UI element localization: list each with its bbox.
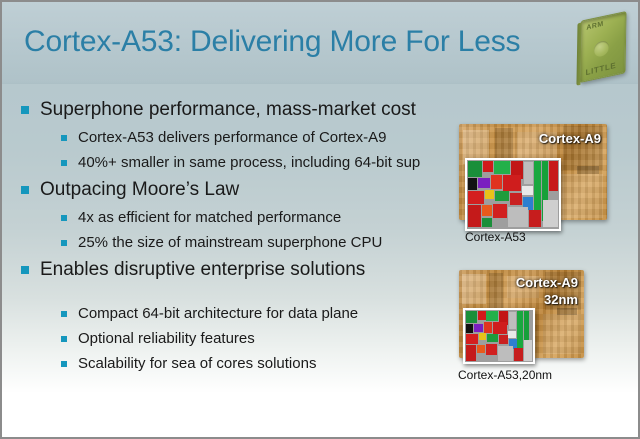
chip-body: ARM LITTLE [579,11,626,83]
bullet-item: 4x as efficient for matched performance [18,206,468,230]
bullet-item: 25% the size of mainstream superphone CP… [18,231,468,255]
bullet-item: Superphone performance, mass-market cost [18,96,468,124]
die-cell [509,312,516,329]
bullet-marker-icon [61,336,67,342]
bullet-text: Compact 64-bit architecture for data pla… [78,305,358,322]
die-cell [514,348,523,361]
die-label: Cortex-A9 [539,131,601,147]
die-cell [529,210,541,227]
cortex-a53-die-photo [465,158,561,231]
bullet-list: Superphone performance, mass-market cost… [18,96,468,377]
bullet-marker-icon [61,135,67,141]
die-cell [482,205,492,216]
die-comparison-top: Cortex-A9 [459,124,631,249]
die-cell [466,334,478,344]
die-block [557,308,577,315]
die-cell [468,205,481,227]
bullet-marker-icon [61,240,67,246]
bullet-marker-icon [61,311,67,317]
bullet-text: Outpacing Moore’s Law [40,179,239,200]
die-cell [478,311,486,320]
die-cell [468,178,477,190]
die-cell [483,161,493,172]
die-caption: Cortex-A53 [465,230,526,244]
die-cell [466,345,476,361]
chip-little-text: LITTLE [586,61,617,78]
bullet-marker-icon [61,215,67,221]
die-cell [508,207,528,227]
die-cell [524,340,532,361]
die-cell [491,175,502,189]
die-caption: Cortex-A53,20nm [458,368,552,382]
title-band: Cortex-A53: Delivering More For Less [2,2,640,84]
bullet-item: Enables disruptive enterprise solutions [18,256,468,284]
die-cell [466,324,473,333]
bullet-item: Scalability for sea of cores solutions [18,352,468,376]
die-cell [466,311,477,323]
die-cell [494,161,510,174]
bullet-item: Optional reliability features [18,327,468,351]
die-block [462,274,486,304]
die-comparison-bottom: Cortex-A9 32nm [451,270,633,396]
die-cell [482,218,492,227]
bullet-spacer [18,286,468,302]
die-cell [474,324,483,332]
die-cell [477,345,485,353]
die-label: Cortex-A9 [516,275,578,291]
bullet-item: 40%+ smaller in same process, including … [18,151,468,175]
die-cell [485,190,494,199]
die-cell [522,186,533,195]
bullet-text: 40%+ smaller in same process, including … [78,154,420,171]
die-cell [468,191,484,204]
die-cell [484,322,492,333]
bullet-marker-icon [21,106,29,114]
chip-dot-icon [594,40,609,58]
die-cell [479,333,486,340]
die-cell [495,191,509,201]
bullet-text: 25% the size of mainstream superphone CP… [78,234,382,251]
die-block [559,174,603,218]
arm-chip-badge-icon: ARM LITTLE [579,11,626,83]
bullet-text: Enables disruptive enterprise solutions [40,259,365,280]
die-cell [468,161,482,177]
die-cell [486,344,497,355]
die-cell [493,204,507,218]
bullet-text: Scalability for sea of cores solutions [78,355,316,372]
bullet-marker-icon [61,361,67,367]
die-cell [499,335,508,344]
die-cell [478,178,490,188]
bullet-marker-icon [61,160,67,166]
die-block [543,314,581,354]
die-cell [549,161,558,191]
bullet-item: Cortex-A53 delivers performance of Corte… [18,126,468,150]
bullet-marker-icon [21,186,29,194]
slide-canvas: Cortex-A53: Delivering More For Less ARM… [0,0,640,439]
bullet-item: Compact 64-bit architecture for data pla… [18,302,468,326]
die-cell [493,322,507,334]
die-cell [487,334,498,342]
chip-arm-text: ARM [586,21,603,32]
die-cell [508,331,516,338]
die-cell [498,346,513,361]
die-cell [543,200,558,227]
page-title: Cortex-A53: Delivering More For Less [24,22,584,62]
die-cell [486,311,498,321]
bullet-text: Cortex-A53 delivers performance of Corte… [78,129,386,146]
cortex-a53-20nm-die-photo [463,308,535,364]
bullet-text: Optional reliability features [78,330,255,347]
die-label-line2: 32nm [544,292,578,308]
die-block [577,166,599,174]
bullet-text: 4x as efficient for matched performance [78,209,341,226]
bullet-marker-icon [21,266,29,274]
die-cell [503,175,521,191]
bullet-item: Outpacing Moore’s Law [18,176,468,204]
die-cell [524,162,533,184]
die-cell [510,193,522,205]
bullet-text: Superphone performance, mass-market cost [40,99,416,120]
